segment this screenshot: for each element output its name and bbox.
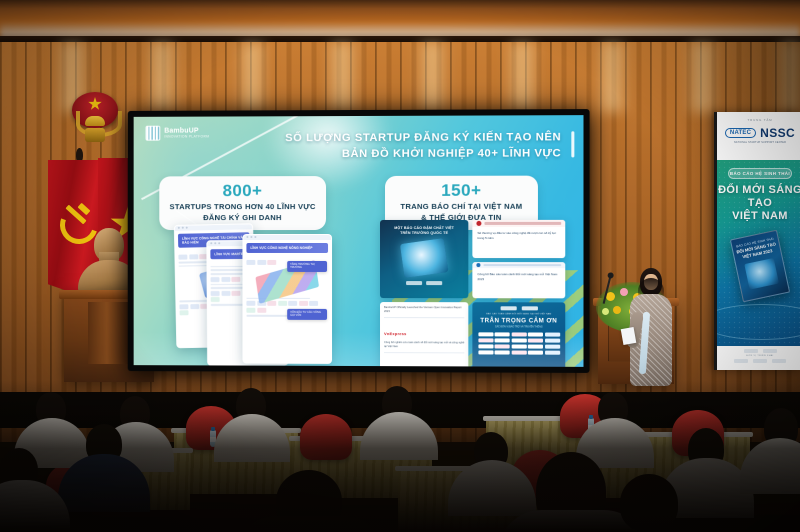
report-callout: VỐN ĐẦU TƯ CÁC VÒNG GỌI VỐN xyxy=(287,309,327,320)
standee-badge: BÁO CÁO HỆ SINH THÁI xyxy=(728,168,792,179)
stat-number: 150+ xyxy=(395,182,528,200)
press-list-heading: BambuUP Officially Launched the Vietnam … xyxy=(384,306,464,314)
press-news-headline: Công bố Báo cáo toàn cảnh Đổi mới sáng t… xyxy=(472,268,565,281)
presenter-notes xyxy=(621,327,637,345)
standee-headline-line-2: VIỆT NAM xyxy=(717,210,800,223)
news-logo-icon xyxy=(476,263,480,267)
press-news-card: Công bố Báo cáo toàn cảnh Đổi mới sáng t… xyxy=(472,262,565,298)
emblem-base xyxy=(85,128,105,142)
standee-body: BÁO CÁO HỆ SINH THÁI ĐỔI MỚI SÁNG TẠO VI… xyxy=(717,160,800,346)
slide-title: SỐ LƯỢNG STARTUP ĐĂNG KÝ KIẾN TẠO NÊN BẢ… xyxy=(285,130,561,163)
vietnam-national-emblem-icon xyxy=(72,92,118,144)
bambuup-logo: BambuUP INNOVATION PLATFORM xyxy=(145,126,209,141)
thanks-title: TRÂN TRỌNG CẢM ƠN xyxy=(476,317,561,324)
thanks-subtitle: BÁO CÁO TOÀN CẢNH ĐỔI MỚI SÁNG TẠO MỞ VI… xyxy=(476,313,561,315)
female-presenter xyxy=(628,268,674,386)
press-hero-illustration xyxy=(400,239,448,279)
nssc-logo-subtitle: NATIONAL STARTUP SUPPORT CENTER xyxy=(717,141,800,144)
led-presentation-screen: BambuUP INNOVATION PLATFORM SỐ LƯỢNG STA… xyxy=(128,109,590,373)
standee-header: TRUNG TÂM NATEC NSSC NATIONAL STARTUP SU… xyxy=(717,112,800,160)
presentation-slide: BambuUP INNOVATION PLATFORM SỐ LƯỢNG STA… xyxy=(134,115,584,367)
press-hero-title-line-2: TRÊN TRƯỜNG QUỐC TẾ xyxy=(385,231,463,236)
book-cover-illustration xyxy=(744,257,779,289)
thanks-line: CÁC ĐƠN VỊ BẢO TRỢ VÀ TRUYỀN THÔNG xyxy=(476,326,561,328)
nssc-logo: NSSC xyxy=(760,126,795,140)
brand-name: BambuUP xyxy=(164,127,209,134)
stat-caption-line-1: STARTUPS TRONG HƠN 40 LĨNH VỰC xyxy=(169,202,316,213)
bambuup-mark-icon xyxy=(145,126,160,141)
standee-kicker: TRUNG TÂM xyxy=(717,118,800,122)
gov-seal-icon xyxy=(476,221,481,226)
standee-footer-kicker: ĐƠN VỊ TRIỂN KHAI xyxy=(721,355,799,357)
standee-ripple-graphic xyxy=(717,304,800,340)
stat-number: 800+ xyxy=(169,182,316,200)
slide-title-line-2: BẢN ĐỒ KHỞI NGHIỆP 40+ LĨNH VỰC xyxy=(285,146,561,163)
screen-reflection xyxy=(134,331,584,367)
press-hero-card: MỘT BÁO CÁO ĐẬM CHẤT VIỆT TRÊN TRƯỜNG QU… xyxy=(380,220,468,298)
natec-logo: NATEC xyxy=(725,128,756,138)
brand-tagline: INNOVATION PLATFORM xyxy=(164,135,209,139)
stat-card-startups: 800+ STARTUPS TRONG HƠN 40 LĨNH VỰC ĐĂNG… xyxy=(159,176,326,230)
stat-caption-line-1: TRANG BÁO CHÍ TẠI VIỆT NAM xyxy=(395,202,528,213)
report-header: LĨNH VỰC CÔNG NGHỆ NÔNG NGHIỆP xyxy=(246,242,328,252)
conference-photo: BambuUP INNOVATION PLATFORM SỐ LƯỢNG STA… xyxy=(0,0,800,532)
standee-footer: ĐƠN VỊ TRIỂN KHAI xyxy=(717,346,800,370)
slide-title-accent-bar xyxy=(571,131,574,157)
standee-headline: ĐỔI MỚI SÁNG TẠO VIỆT NAM xyxy=(717,184,800,224)
report-callout: TĂNG TRƯỞNG THỊ TRƯỜNG xyxy=(287,261,327,272)
room-floor-shadow xyxy=(0,380,800,532)
slide-title-line-1: SỐ LƯỢNG STARTUP ĐĂNG KÝ KIẾN TẠO NÊN xyxy=(285,130,561,147)
press-news-headline: Sẽ thương vụ đầu tư vào công nghệ đã vượ… xyxy=(472,227,565,240)
standee-headline-line-1: ĐỔI MỚI SÁNG TẠO xyxy=(717,184,800,210)
emblem-gear-icon xyxy=(85,116,105,126)
event-standee-banner: TRUNG TÂM NATEC NSSC NATIONAL STARTUP SU… xyxy=(714,112,800,370)
press-news-card: Sẽ thương vụ đầu tư vào công nghệ đã vượ… xyxy=(472,220,565,258)
